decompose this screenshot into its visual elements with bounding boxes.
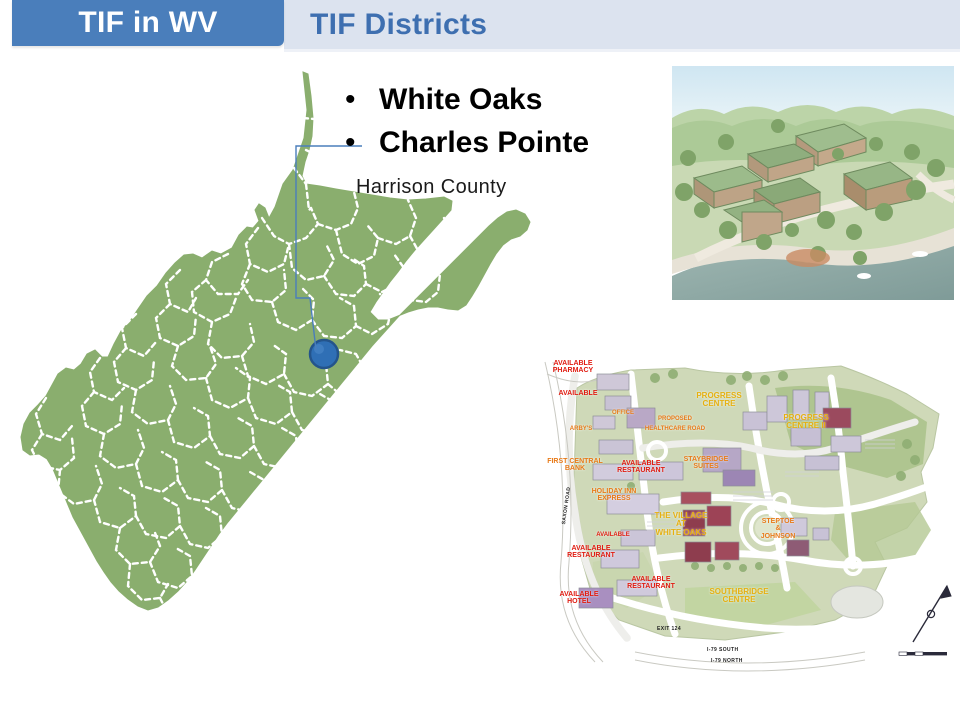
site-label-available-1: AVAILABLE — [549, 390, 607, 397]
white-oaks-site-plan: AVAILABLE PHARMACY AVAILABLE OFFICE ARBY… — [535, 352, 960, 677]
site-label-steptoe-johnson: STEPTOE & JOHNSON — [749, 518, 807, 540]
site-label-available-restaurant-1: AVAILABLE RESTAURANT — [607, 460, 675, 475]
bullet-label-charles-pointe: Charles Pointe — [379, 125, 589, 162]
site-label-available-2: AVAILABLE — [585, 532, 641, 538]
bullet-marker-icon: • — [345, 85, 379, 115]
site-label-holiday-inn-express: HOLIDAY INN EXPRESS — [579, 488, 649, 503]
site-label-available-restaurant-3: AVAILABLE RESTAURANT — [617, 576, 685, 591]
site-label-southbridge-centre: SOUTHBRIDGE CENTRE — [701, 588, 777, 605]
site-label-village-at-white-oaks: THE VILLAGE AT WHITE OAKS — [643, 512, 719, 537]
road-label-i79-south: I-79 SOUTH — [707, 647, 739, 653]
tab-tif-in-wv-label: TIF in WV — [12, 0, 284, 46]
bullet-list: • White Oaks • Charles Pointe — [345, 82, 675, 167]
site-label-progress-centre: PROGRESS CENTRE — [687, 392, 751, 409]
header-divider — [12, 52, 960, 53]
list-item[interactable]: • White Oaks — [345, 82, 675, 119]
scale-bar — [899, 652, 947, 655]
bullet-label-white-oaks: White Oaks — [379, 82, 542, 119]
site-label-progress-centre-ii: PROGRESS CENTRE II — [773, 414, 839, 431]
site-label-available-pharmacy: AVAILABLE PHARMACY — [543, 360, 603, 375]
site-label-office: OFFICE — [601, 410, 645, 416]
list-item[interactable]: • Charles Pointe — [345, 125, 675, 162]
site-label-healthcare-road: HEALTHCARE ROAD — [633, 426, 717, 432]
bullet-marker-icon: • — [345, 128, 379, 158]
site-label-proposed: PROPOSED — [651, 416, 699, 422]
charles-pointe-aerial-rendering — [668, 62, 958, 304]
county-caption: Harrison County — [356, 176, 507, 199]
site-label-first-central-bank: FIRST CENTRAL BANK — [539, 458, 611, 473]
slide-canvas: TIF in WV TIF Districts — [0, 0, 960, 720]
map-marker-harrison-county — [310, 340, 338, 368]
site-label-available-restaurant-2: AVAILABLE RESTAURANT — [557, 545, 625, 560]
site-label-arbys: ARBY'S — [559, 426, 603, 432]
road-label-i79-north: I-79 NORTH — [711, 658, 743, 664]
site-label-staybridge-suites: STAYBRIDGE SUITES — [675, 456, 737, 471]
slide-header: TIF in WV TIF Districts — [0, 0, 960, 52]
site-label-available-hotel: AVAILABLE HOTEL — [549, 591, 609, 606]
page-title: TIF Districts — [310, 0, 487, 49]
road-label-exit-124: EXIT 124 — [657, 626, 681, 632]
